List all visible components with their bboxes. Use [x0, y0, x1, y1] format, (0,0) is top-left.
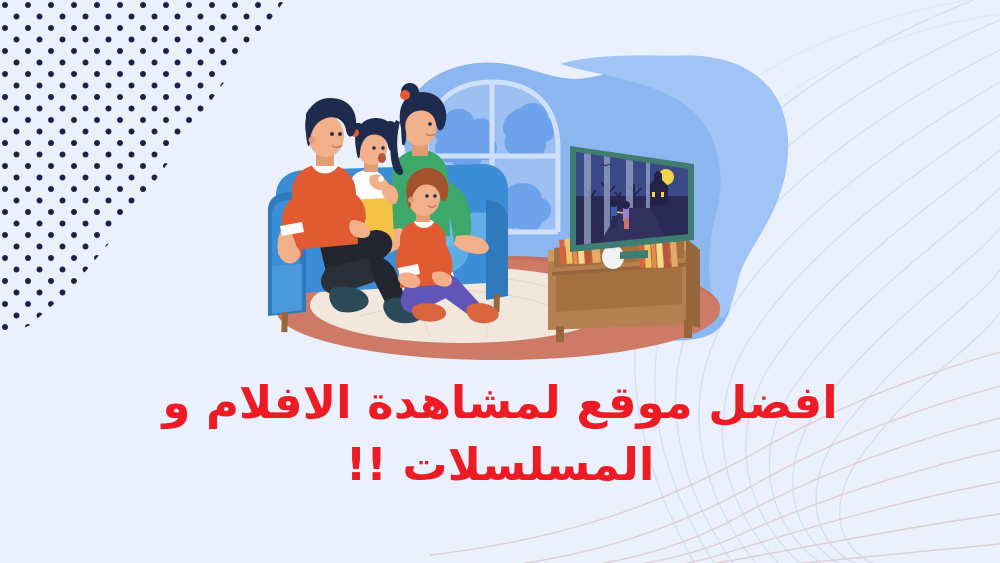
poster-canvas: افضل موقع لمشاهدة الافلام و المسلسلات !!	[0, 0, 1000, 563]
family-watching-tv-illustration	[0, 0, 1000, 563]
